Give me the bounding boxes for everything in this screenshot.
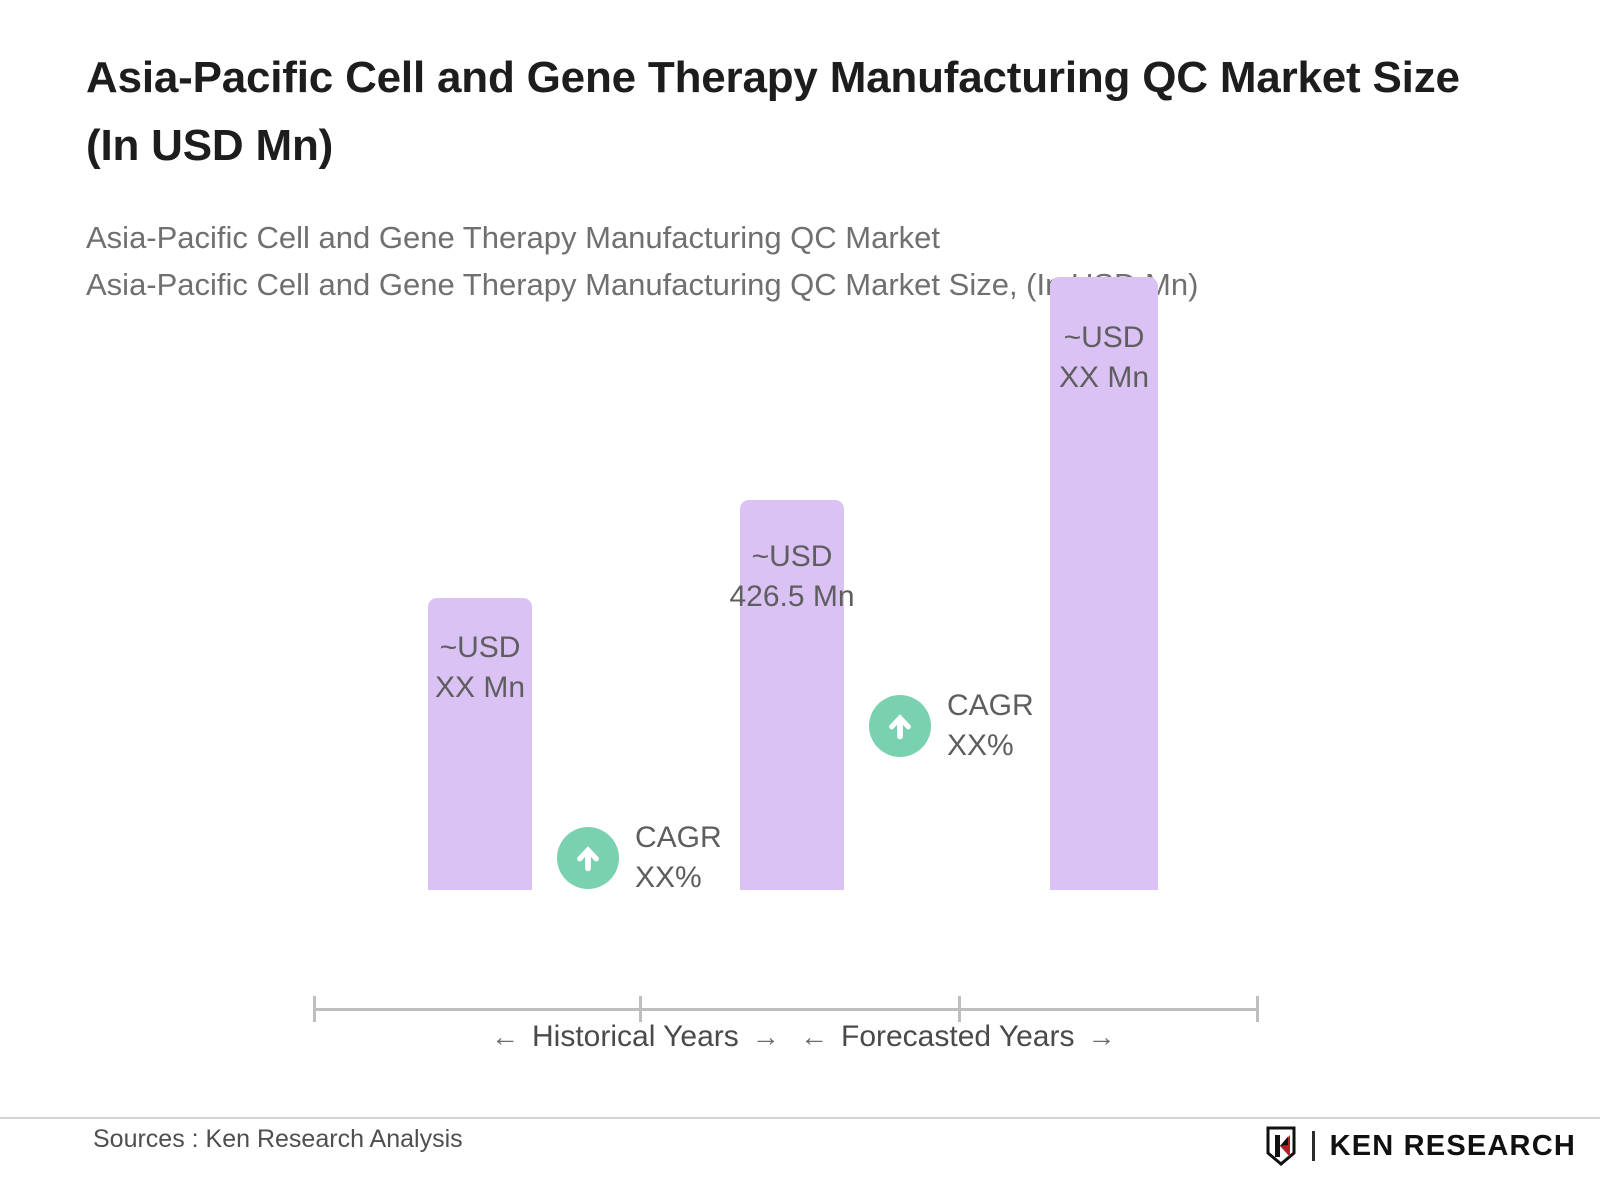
slide-canvas: Asia-Pacific Cell and Gene Therapy Manuf…	[0, 0, 1600, 1200]
x-axis-tick-start	[313, 996, 316, 1022]
bar-label-line2: XX Mn	[997, 358, 1211, 398]
cagr-text-block: CAGR XX%	[947, 686, 1034, 765]
cagr-label: CAGR	[947, 686, 1034, 726]
axis-captions: ← Historical Years → ← Forecasted Years …	[313, 1020, 1259, 1072]
arrow-up-icon	[557, 827, 619, 889]
logo-separator	[1312, 1131, 1315, 1161]
cagr-label: CAGR	[635, 818, 722, 858]
cagr-annotation-historical[interactable]: CAGR XX%	[557, 818, 722, 897]
cagr-value: XX%	[635, 858, 722, 898]
x-axis-tick-mid-1	[639, 996, 642, 1022]
bar-label-forecasted: ~USD XX Mn	[997, 318, 1211, 397]
bar-label-historical: ~USD XX Mn	[373, 628, 587, 707]
logo-wordmark: KEN RESEARCH	[1330, 1132, 1576, 1161]
arrow-right-icon: →	[1087, 1023, 1115, 1051]
bar-label-line1: ~USD	[373, 628, 587, 668]
bar-label-line1: ~USD	[685, 537, 899, 577]
footer-divider	[0, 1117, 1600, 1119]
axis-caption-historical: ← Historical Years →	[491, 1020, 780, 1054]
arrow-left-icon: ←	[800, 1023, 828, 1051]
cagr-annotation-forecasted[interactable]: CAGR XX%	[869, 686, 1034, 765]
x-axis-tick-end	[1256, 996, 1259, 1022]
bar-label-line1: ~USD	[997, 318, 1211, 358]
cagr-value: XX%	[947, 726, 1034, 766]
axis-caption-forecasted: ← Forecasted Years →	[800, 1020, 1115, 1054]
bar-label-base-year: ~USD 426.5 Mn	[685, 537, 899, 616]
axis-caption-forecasted-label: Forecasted Years	[841, 1020, 1074, 1054]
bar-label-line2: 426.5 Mn	[685, 577, 899, 617]
logo-shield-icon	[1261, 1126, 1301, 1166]
bar-chart-plot-area: ~USD XX Mn ~USD 426.5 Mn ~USD XX Mn CAGR…	[0, 0, 1600, 1080]
ken-research-logo: KEN RESEARCH	[1261, 1126, 1576, 1166]
bar-label-line2: XX Mn	[373, 668, 587, 708]
sources-text: Sources : Ken Research Analysis	[93, 1125, 463, 1154]
axis-caption-historical-label: Historical Years	[532, 1020, 739, 1054]
arrow-left-icon: ←	[491, 1023, 519, 1051]
arrow-right-icon: →	[752, 1023, 780, 1051]
x-axis-line	[313, 1008, 1259, 1011]
arrow-up-icon	[869, 695, 931, 757]
x-axis-tick-mid-2	[958, 996, 961, 1022]
cagr-text-block: CAGR XX%	[635, 818, 722, 897]
